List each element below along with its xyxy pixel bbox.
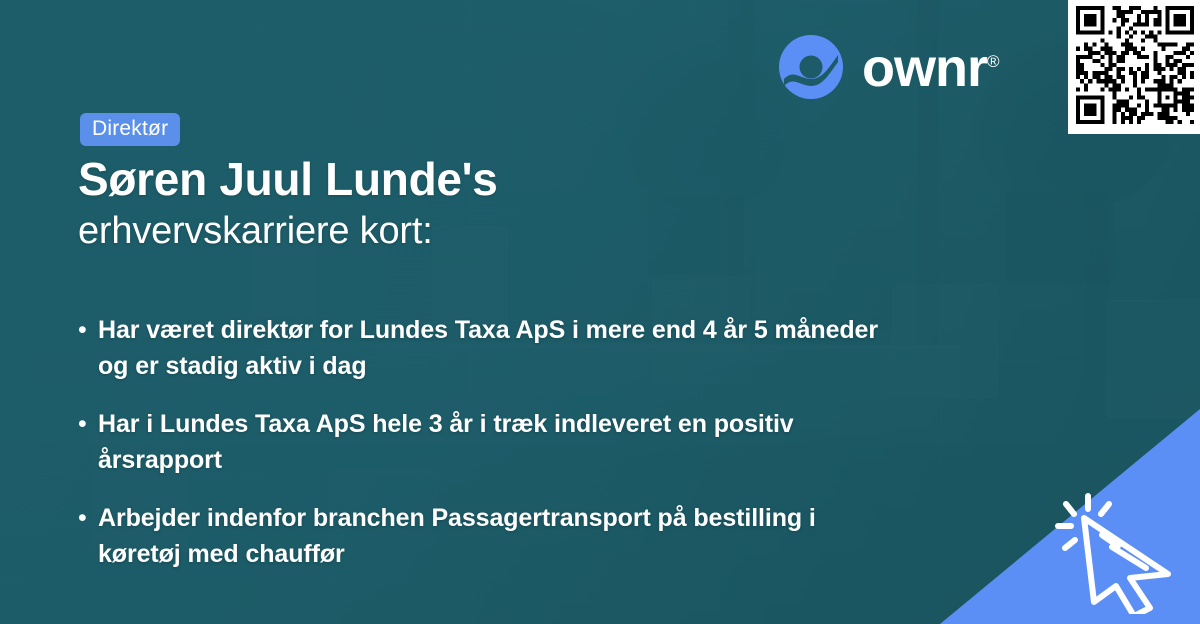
page-title: Søren Juul Lunde's [78,156,498,202]
role-badge: Direktør [80,113,180,146]
list-item: • Har i Lundes Taxa ApS hele 3 år i træk… [78,406,878,478]
page-subtitle: erhvervskarriere kort: [78,212,433,250]
bullet-icon: • [78,312,98,348]
bullet-icon: • [78,500,98,536]
qr-code[interactable] [1076,6,1194,124]
list-item: • Har været direktør for Lundes Taxa ApS… [78,312,878,384]
list-item-text: Har i Lundes Taxa ApS hele 3 år i træk i… [98,406,878,478]
ownr-wordmark: ownr® [862,41,1000,95]
list-item-text: Har været direktør for Lundes Taxa ApS i… [98,312,878,384]
career-highlights-list: • Har været direktør for Lundes Taxa ApS… [78,312,878,594]
promo-card: Direktør Søren Juul Lunde's erhvervskarr… [0,0,1200,624]
ownr-circle-swoosh-icon [778,34,844,100]
ownr-logo[interactable]: ownr® [778,34,1000,100]
list-item-text: Arbejder indenfor branchen Passagertrans… [98,500,878,572]
mouse-cursor-click-icon [1050,482,1182,614]
bullet-icon: • [78,406,98,442]
wordmark-text: ownr [862,38,987,98]
list-item: • Arbejder indenfor branchen Passagertra… [78,500,878,572]
registered-trademark-icon: ® [987,52,1000,71]
